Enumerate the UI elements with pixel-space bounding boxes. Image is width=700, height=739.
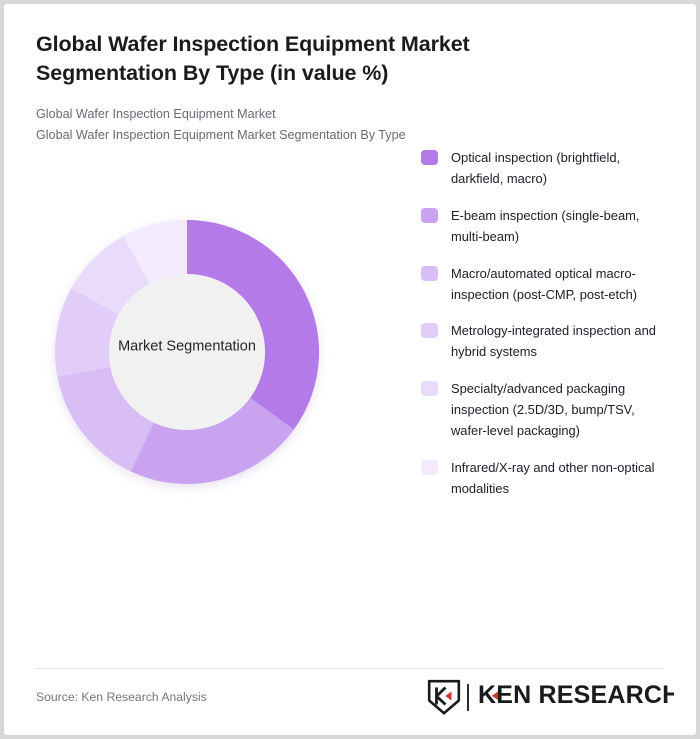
legend-item[interactable]: E-beam inspection (single-beam, multi-be… bbox=[421, 206, 669, 248]
donut-chart: Market Segmentation bbox=[37, 187, 337, 507]
brand-name: KEN RESEARCH bbox=[478, 682, 674, 713]
ken-research-shield-icon bbox=[427, 679, 461, 715]
legend-swatch-icon bbox=[421, 381, 438, 396]
subtitle-block: Global Wafer Inspection Equipment Market… bbox=[36, 104, 664, 145]
legend-swatch-icon bbox=[421, 323, 438, 338]
legend-item-label: Metrology-integrated inspection and hybr… bbox=[451, 321, 669, 363]
donut-chart-svg bbox=[37, 187, 337, 507]
brand-logo: KEN RESEARCH bbox=[427, 679, 674, 715]
source-text: Source: Ken Research Analysis bbox=[36, 690, 207, 704]
chart-body: Market Segmentation Optical inspection (… bbox=[4, 145, 696, 615]
legend-item-label: Infrared/X-ray and other non-optical mod… bbox=[451, 458, 669, 500]
legend-swatch-icon bbox=[421, 266, 438, 281]
ken-research-wordmark: KEN RESEARCH bbox=[478, 682, 674, 709]
page-title: Global Wafer Inspection Equipment Market… bbox=[36, 30, 596, 87]
wordmark-text: KEN RESEARCH bbox=[478, 682, 674, 709]
subtitle-line-1: Global Wafer Inspection Equipment Market bbox=[36, 104, 664, 124]
subtitle-line-2: Global Wafer Inspection Equipment Market… bbox=[36, 125, 664, 145]
chart-footer: Source: Ken Research Analysis KEN RESEAR… bbox=[36, 677, 674, 717]
donut-hole bbox=[109, 274, 265, 430]
legend-item-label: Specialty/advanced packaging inspection … bbox=[451, 379, 669, 442]
legend-item[interactable]: Specialty/advanced packaging inspection … bbox=[421, 379, 669, 442]
chart-card: Global Wafer Inspection Equipment Market… bbox=[4, 4, 696, 735]
chart-legend: Optical inspection (brightfield, darkfie… bbox=[421, 148, 669, 516]
legend-item[interactable]: Infrared/X-ray and other non-optical mod… bbox=[421, 458, 669, 500]
brand-separator bbox=[467, 684, 469, 711]
legend-item[interactable]: Macro/automated optical macro-inspection… bbox=[421, 264, 669, 306]
footer-divider bbox=[36, 668, 664, 669]
legend-item-label: Optical inspection (brightfield, darkfie… bbox=[451, 148, 669, 190]
chart-header: Global Wafer Inspection Equipment Market… bbox=[4, 4, 696, 145]
legend-item[interactable]: Metrology-integrated inspection and hybr… bbox=[421, 321, 669, 363]
legend-item-label: Macro/automated optical macro-inspection… bbox=[451, 264, 669, 306]
legend-swatch-icon bbox=[421, 208, 438, 223]
legend-swatch-icon bbox=[421, 460, 438, 475]
legend-item[interactable]: Optical inspection (brightfield, darkfie… bbox=[421, 148, 669, 190]
legend-item-label: E-beam inspection (single-beam, multi-be… bbox=[451, 206, 669, 248]
legend-swatch-icon bbox=[421, 150, 438, 165]
